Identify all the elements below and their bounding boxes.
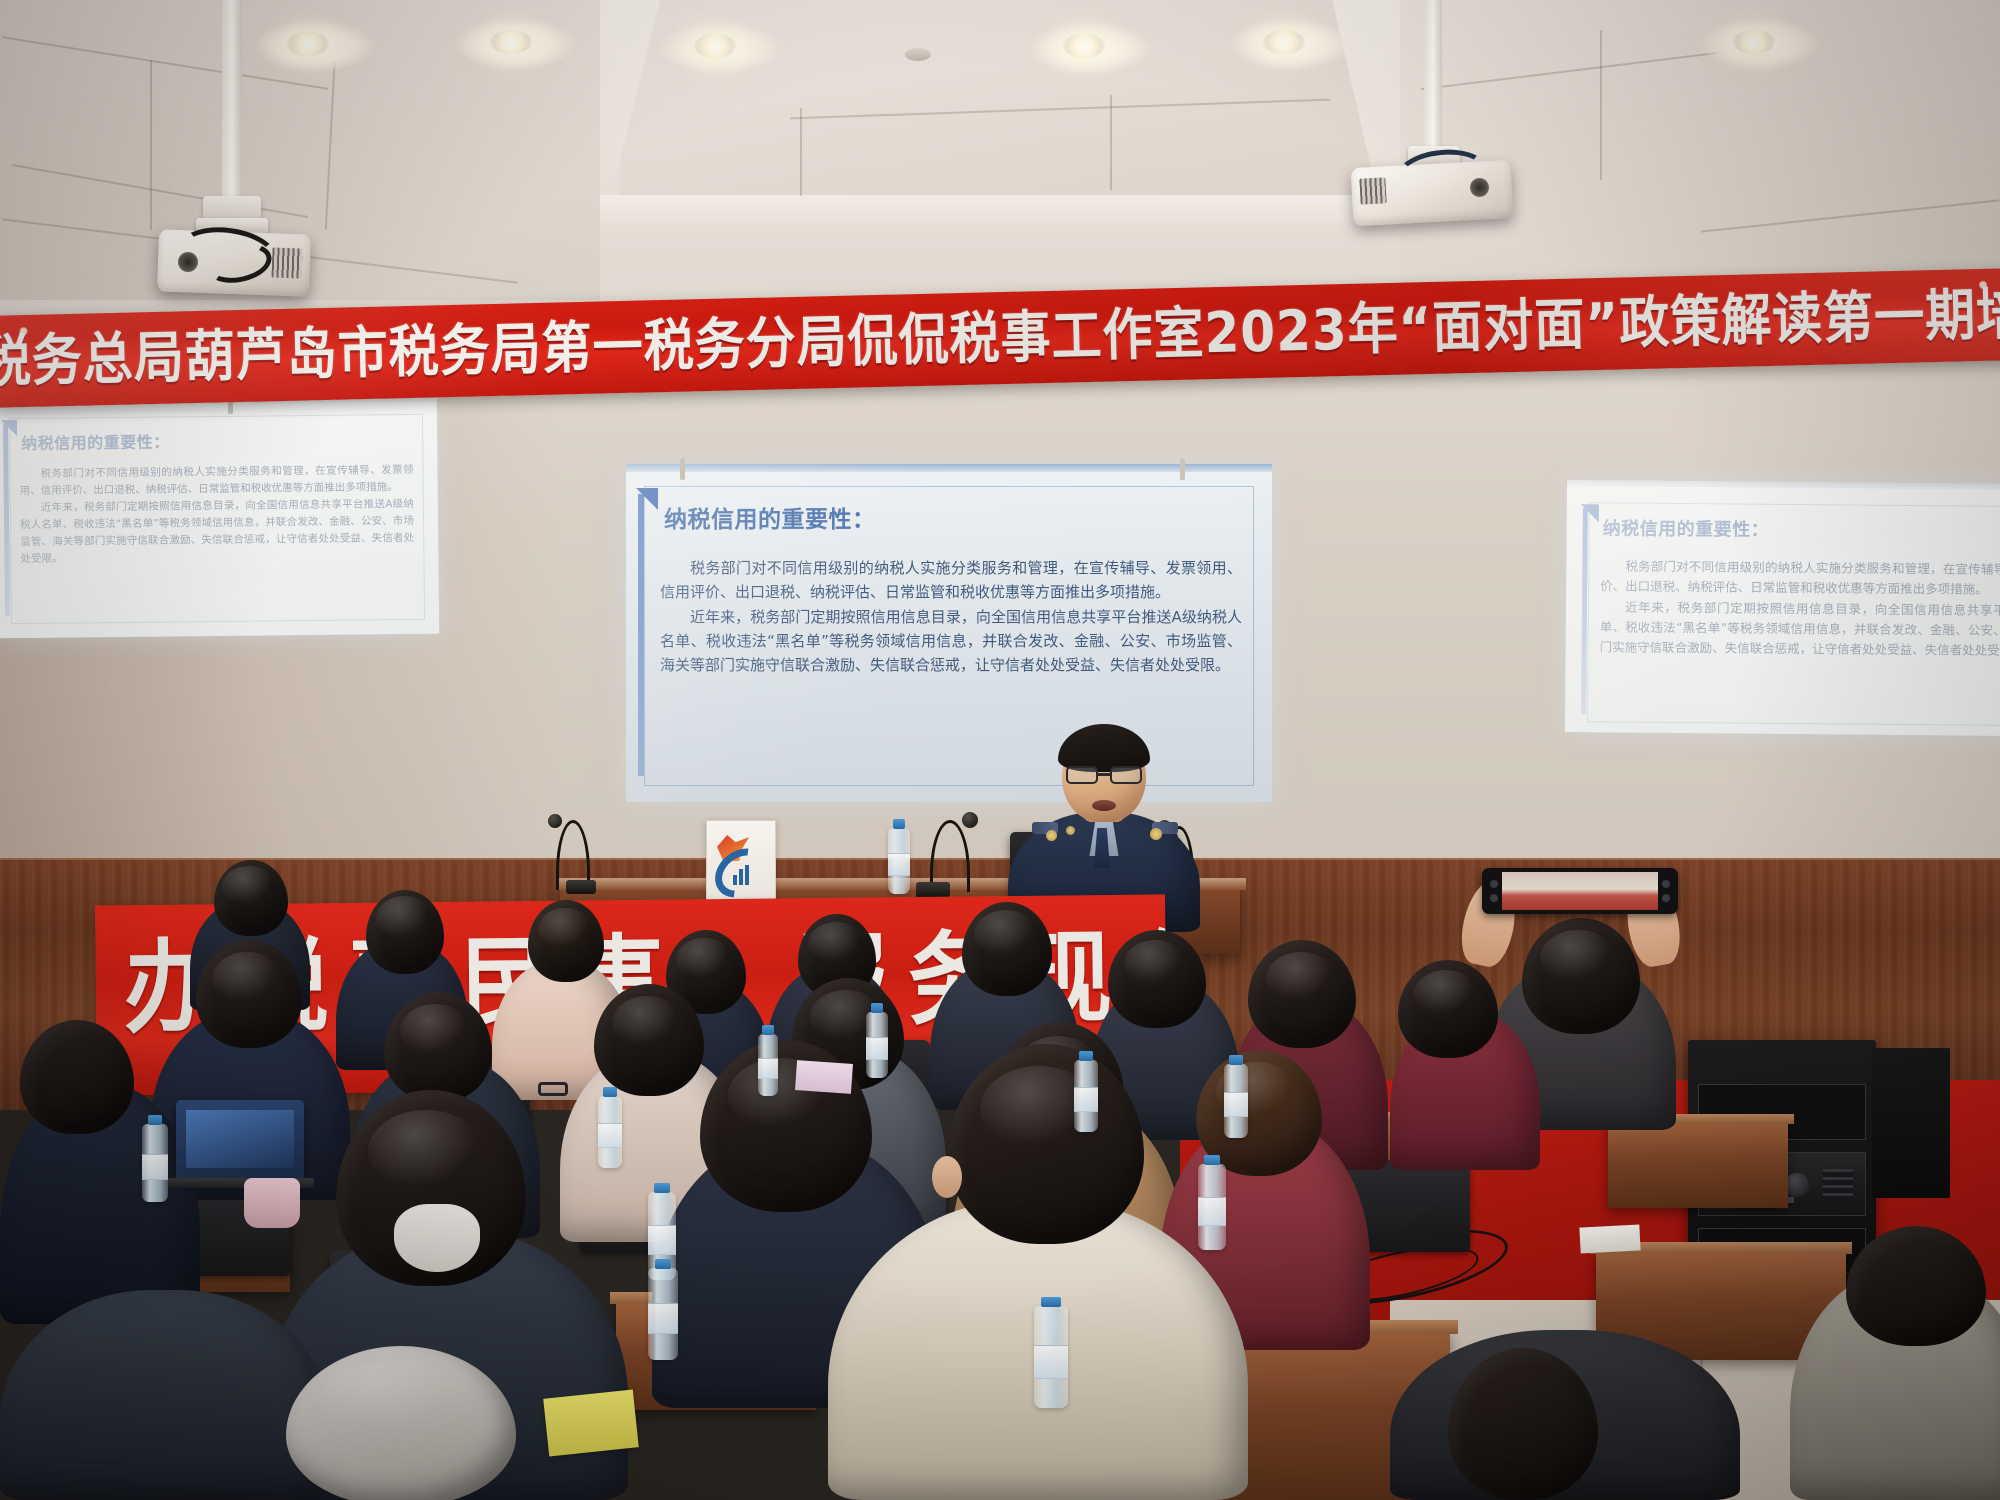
glasses-icon [538, 1082, 568, 1096]
water-bottle [1198, 1164, 1226, 1250]
audience-desk-row [1608, 1120, 1788, 1208]
slide-paragraph-2: 近年来，税务部门定期按照信用信息目录，向全国信用信息共享平台推送A级纳税人名单、… [1600, 597, 2000, 662]
ceiling-grid-line [1600, 30, 1602, 180]
cup [244, 1178, 300, 1228]
center-projection-screen: 纳税信用的重要性： 税务部门对不同信用级别的纳税人实施分类服务和管理，在宣传辅导… [626, 464, 1272, 802]
slide-paragraph-2: 近年来，税务部门定期按照信用信息目录，向全国信用信息共享平台推送A级纳税人名单、… [660, 605, 1242, 678]
water-bottle [888, 828, 910, 894]
slide-paragraph-2: 近年来，税务部门定期按照信用信息目录，向全国信用信息共享平台推送A级纳税人名单、… [20, 496, 415, 568]
face-mask [394, 1204, 480, 1272]
ceiling-grid-line [800, 108, 802, 196]
handout-paper [795, 1060, 853, 1094]
right-projection-screen: 纳税信用的重要性： 税务部门对不同信用级别的纳税人实施分类服务和管理，在宣传辅导… [1565, 480, 2000, 736]
water-bottle [1074, 1060, 1098, 1132]
ceiling-downlight [694, 34, 736, 58]
ceiling-grid-line [150, 60, 152, 230]
screen-hook [680, 458, 685, 480]
slide-paragraph-1: 税务部门对不同信用级别的纳税人实施分类服务和管理，在宣传辅导、发票领用、信用评价… [1600, 556, 2000, 601]
smartphone-camera[interactable] [1482, 868, 1678, 914]
ceiling-downlight [1063, 34, 1105, 58]
slide-body: 税务部门对不同信用级别的纳税人实施分类服务和管理，在宣传辅导、发票领用、信用评价… [660, 556, 1242, 677]
ceiling-downlight [1733, 30, 1775, 54]
smoke-detector-icon [905, 48, 931, 61]
slide-title: 纳税信用的重要性： [664, 500, 876, 534]
screen-hook [1180, 458, 1185, 480]
handout-paper [1579, 1224, 1640, 1253]
slide-paragraph-1: 税务部门对不同信用级别的纳税人实施分类服务和管理，在宣传辅导、发票领用、信用评价… [660, 556, 1242, 605]
water-bottle [142, 1124, 168, 1202]
ceiling-downlight [490, 30, 532, 54]
water-bottle [648, 1268, 678, 1360]
water-bottle [598, 1096, 622, 1168]
ceiling-grid-line [1110, 95, 1112, 190]
water-bottle [1034, 1306, 1068, 1408]
water-bottle [866, 1012, 888, 1078]
pa-speaker [1872, 1048, 1950, 1198]
handout-paper [543, 1389, 639, 1456]
phone-live-preview [1502, 872, 1658, 910]
glasses-icon [1110, 766, 1142, 784]
left-projection-screen: 纳税信用的重要性： 税务部门对不同信用级别的纳税人实施分类服务和管理，在宣传辅导… [0, 396, 439, 639]
slide-body: 税务部门对不同信用级别的纳税人实施分类服务和管理，在宣传辅导、发票领用、信用评价… [1600, 556, 2000, 662]
slide-title: 纳税信用的重要性： [21, 428, 170, 454]
water-bottle [1224, 1064, 1248, 1138]
slide-title: 纳税信用的重要性： [1603, 514, 1770, 541]
conference-room-photo: 纳税信用的重要性： 税务部门对不同信用级别的纳税人实施分类服务和管理，在宣传辅导… [0, 0, 2000, 1500]
water-bottle [758, 1034, 778, 1096]
ceiling-downlight [287, 32, 329, 56]
ceiling-downlight [1263, 30, 1305, 54]
slide-paragraph-1: 税务部门对不同信用级别的纳税人实施分类服务和管理，在宣传辅导、发票领用、信用评价… [19, 462, 413, 500]
glasses-icon [1066, 766, 1098, 784]
slide-body: 税务部门对不同信用级别的纳税人实施分类服务和管理，在宣传辅导、发票领用、信用评价… [19, 462, 414, 568]
